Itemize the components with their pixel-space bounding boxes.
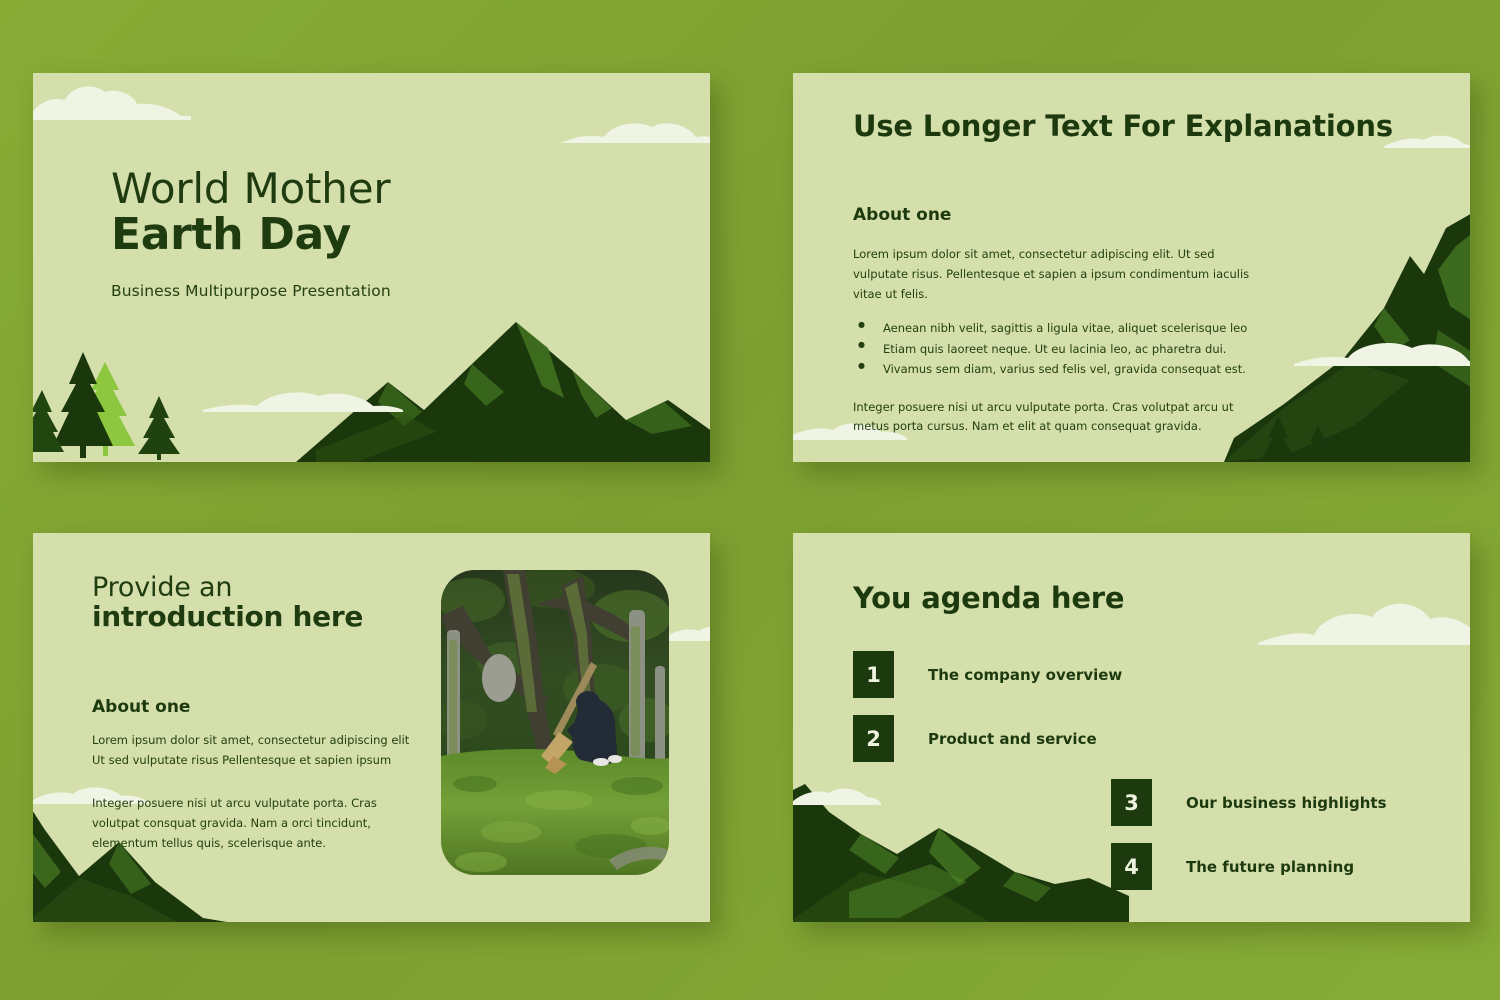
page-title-line1: Provide an [92, 573, 412, 602]
paragraph-2: Integer posuere nisi ut arcu vulputate p… [853, 398, 1253, 438]
slide2-copy: Use Longer Text For Explanations About o… [853, 109, 1424, 437]
list-item: Etiam quis laoreet neque. Ut eu lacinia … [853, 339, 1424, 359]
agenda-item-label: The company overview [928, 666, 1122, 684]
pine-trees [33, 342, 217, 462]
page-title-line2: Earth Day [111, 211, 391, 259]
cloud-icon [203, 384, 403, 414]
page-title-line2: introduction here [92, 602, 412, 633]
agenda-number-badge: 2 [853, 715, 894, 762]
page-title-line1: World Mother [111, 166, 391, 211]
mountain-range [296, 322, 710, 462]
paragraph-1: Lorem ipsum dolor sit amet, consectetur … [92, 731, 412, 771]
list-item: Aenean nibh velit, sagittis a ligula vit… [853, 318, 1424, 338]
slide-introduction[interactable]: Provide an introduction here About one L… [33, 533, 710, 922]
cloud-icon [33, 78, 199, 123]
paragraph-1: Lorem ipsum dolor sit amet, consectetur … [853, 245, 1273, 304]
slide-long-text[interactable]: Use Longer Text For Explanations About o… [793, 73, 1470, 462]
agenda-item-label: Product and service [928, 730, 1097, 748]
list-item: Vivamus sem diam, varius sed felis vel, … [853, 359, 1424, 379]
slide-agenda[interactable]: You agenda here 1 The company overview 2… [793, 533, 1470, 922]
slide-deck-canvas: World Mother Earth Day Business Multipur… [0, 0, 1500, 1000]
page-subtitle: Business Multipurpose Presentation [111, 282, 391, 300]
slide-title[interactable]: World Mother Earth Day Business Multipur… [33, 73, 710, 462]
agenda-list: 1 The company overview 2 Product and ser… [853, 651, 1440, 890]
slide3-copy: Provide an introduction here About one L… [92, 573, 412, 854]
agenda-number-badge: 4 [1111, 843, 1152, 890]
agenda-item-4[interactable]: 4 The future planning [1111, 843, 1440, 890]
section-heading: About one [92, 697, 412, 717]
page-title: You agenda here [853, 581, 1440, 615]
agenda-item-1[interactable]: 1 The company overview [853, 651, 1440, 698]
paragraph-2: Integer posuere nisi ut arcu vulputate p… [92, 794, 412, 853]
bullet-list: Aenean nibh velit, sagittis a ligula vit… [853, 318, 1424, 379]
slide1-copy: World Mother Earth Day Business Multipur… [111, 166, 391, 300]
page-title: Use Longer Text For Explanations [853, 109, 1424, 143]
cloud-icon [560, 111, 710, 145]
agenda-item-label: Our business highlights [1186, 794, 1387, 812]
slide4-copy: You agenda here 1 The company overview 2… [853, 581, 1440, 907]
agenda-item-3[interactable]: 3 Our business highlights [1111, 779, 1440, 826]
section-heading: About one [853, 205, 1424, 225]
agenda-item-label: The future planning [1186, 858, 1354, 876]
agenda-number-badge: 1 [853, 651, 894, 698]
agenda-item-2[interactable]: 2 Product and service [853, 715, 1440, 762]
agenda-number-badge: 3 [1111, 779, 1152, 826]
forest-photo [441, 570, 669, 875]
